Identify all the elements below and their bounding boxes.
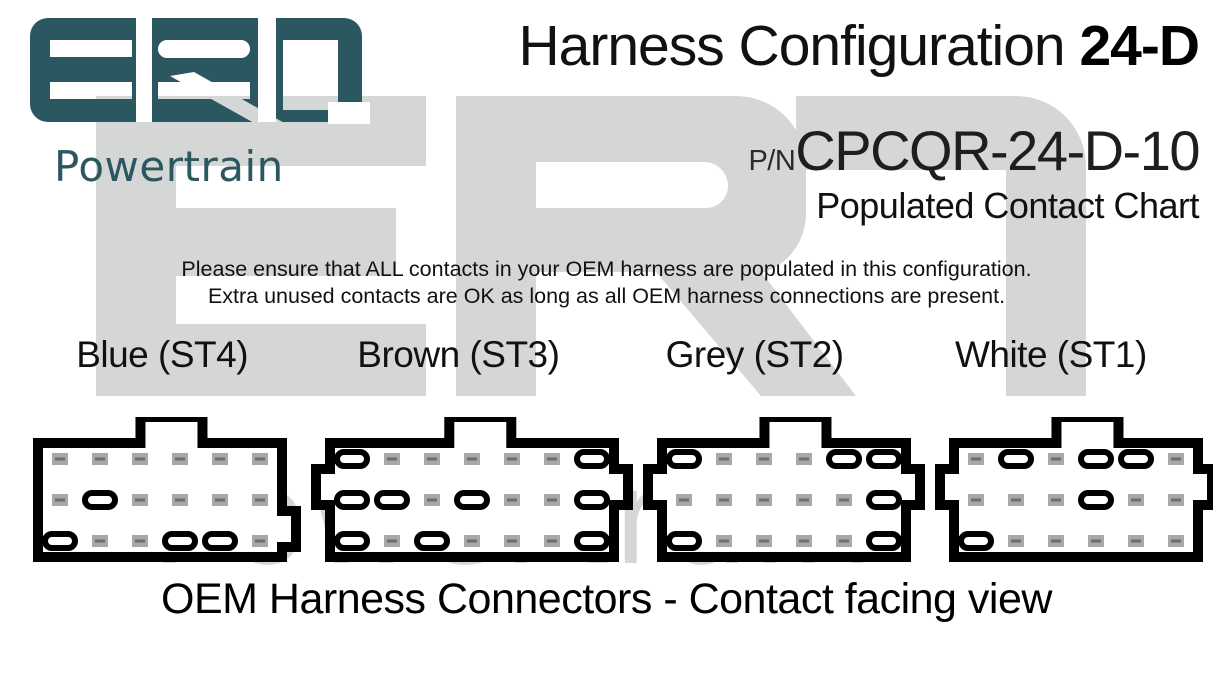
contact-empty bbox=[968, 494, 984, 506]
contact-empty bbox=[796, 535, 812, 547]
contact-empty bbox=[544, 535, 560, 547]
connector-body-st2 bbox=[638, 417, 930, 567]
contact-populated bbox=[1081, 452, 1111, 466]
connector-st4 bbox=[14, 417, 306, 567]
contact-empty bbox=[1048, 535, 1064, 547]
harness-configuration-sheet: Powertrain bbox=[0, 0, 1213, 682]
contact-populated bbox=[1081, 493, 1111, 507]
contact-empty bbox=[836, 494, 852, 506]
contact-populated bbox=[457, 493, 487, 507]
page-title-regular: Harness Configuration bbox=[518, 14, 1079, 78]
contact-empty bbox=[796, 494, 812, 506]
contact-empty bbox=[1128, 535, 1144, 547]
contact-empty bbox=[172, 494, 188, 506]
contact-empty bbox=[544, 453, 560, 465]
page-subtitle: Populated Contact Chart bbox=[816, 185, 1199, 227]
contact-empty bbox=[132, 535, 148, 547]
contact-empty bbox=[756, 494, 772, 506]
notice-line-1: Please ensure that ALL contacts in your … bbox=[0, 256, 1213, 283]
contact-populated bbox=[869, 493, 899, 507]
notice-block: Please ensure that ALL contacts in your … bbox=[0, 256, 1213, 310]
page-title: Harness Configuration 24-D bbox=[518, 18, 1199, 75]
contact-empty bbox=[92, 535, 108, 547]
contact-empty bbox=[504, 453, 520, 465]
contact-populated bbox=[577, 452, 607, 466]
connector-body-st3 bbox=[306, 417, 638, 567]
contact-populated bbox=[869, 452, 899, 466]
contact-populated bbox=[337, 534, 367, 548]
contact-empty bbox=[252, 535, 268, 547]
contact-empty bbox=[796, 453, 812, 465]
contact-empty bbox=[756, 453, 772, 465]
connector-diagrams-row bbox=[0, 387, 1213, 567]
contact-empty bbox=[968, 453, 984, 465]
contact-populated bbox=[869, 534, 899, 548]
contact-empty bbox=[1168, 494, 1184, 506]
contact-empty bbox=[716, 453, 732, 465]
contact-empty bbox=[132, 453, 148, 465]
connector-label-st1: White (ST1) bbox=[903, 336, 1199, 375]
erd-logo-mark bbox=[18, 16, 370, 124]
connector-st1 bbox=[930, 417, 1213, 567]
connector-st3 bbox=[306, 417, 638, 567]
contact-populated bbox=[45, 534, 75, 548]
contact-populated bbox=[669, 452, 699, 466]
contact-empty bbox=[424, 453, 440, 465]
page-header: Powertrain Harness Configuration 24-D P/… bbox=[0, 0, 1213, 232]
contact-empty bbox=[1048, 494, 1064, 506]
contact-populated bbox=[337, 493, 367, 507]
connector-body-st4 bbox=[14, 417, 306, 567]
contact-populated bbox=[205, 534, 235, 548]
connector-label-st3: Brown (ST3) bbox=[310, 336, 606, 375]
contact-populated bbox=[961, 534, 991, 548]
connector-label-st2: Grey (ST2) bbox=[607, 336, 903, 375]
contact-empty bbox=[504, 535, 520, 547]
contact-populated bbox=[377, 493, 407, 507]
contact-empty bbox=[92, 453, 108, 465]
contact-empty bbox=[52, 494, 68, 506]
contact-populated bbox=[417, 534, 447, 548]
connector-body-st1 bbox=[930, 417, 1213, 567]
contact-empty bbox=[756, 535, 772, 547]
contact-empty bbox=[836, 535, 852, 547]
contact-empty bbox=[132, 494, 148, 506]
contact-empty bbox=[1088, 535, 1104, 547]
connector-labels-row: Blue (ST4)Brown (ST3)Grey (ST2)White (ST… bbox=[0, 336, 1213, 375]
contact-empty bbox=[464, 535, 480, 547]
contact-empty bbox=[676, 494, 692, 506]
footer-caption: OEM Harness Connectors - Contact facing … bbox=[0, 575, 1213, 624]
contact-empty bbox=[1168, 453, 1184, 465]
notice-line-2: Extra unused contacts are OK as long as … bbox=[0, 283, 1213, 310]
part-number: P/NCPCQR-24-D-10 bbox=[748, 118, 1199, 183]
contact-populated bbox=[1001, 452, 1031, 466]
contact-empty bbox=[1128, 494, 1144, 506]
contact-empty bbox=[716, 535, 732, 547]
contact-empty bbox=[716, 494, 732, 506]
contact-populated bbox=[829, 452, 859, 466]
part-number-label: P/N bbox=[748, 145, 795, 177]
contact-empty bbox=[1008, 494, 1024, 506]
contact-empty bbox=[1168, 535, 1184, 547]
connector-label-st4: Blue (ST4) bbox=[14, 336, 310, 375]
contact-empty bbox=[1048, 453, 1064, 465]
contact-empty bbox=[212, 453, 228, 465]
contact-empty bbox=[172, 453, 188, 465]
contact-populated bbox=[165, 534, 195, 548]
contact-empty bbox=[424, 494, 440, 506]
erd-logo: Powertrain bbox=[18, 16, 370, 206]
contact-empty bbox=[1008, 535, 1024, 547]
contact-empty bbox=[252, 453, 268, 465]
contact-empty bbox=[384, 535, 400, 547]
contact-empty bbox=[52, 453, 68, 465]
contact-populated bbox=[85, 493, 115, 507]
contact-empty bbox=[384, 453, 400, 465]
contact-populated bbox=[577, 534, 607, 548]
contact-populated bbox=[337, 452, 367, 466]
contact-empty bbox=[544, 494, 560, 506]
contact-populated bbox=[1121, 452, 1151, 466]
contact-empty bbox=[504, 494, 520, 506]
page-title-config-code: 24-D bbox=[1079, 14, 1199, 78]
part-number-value: CPCQR-24-D-10 bbox=[795, 119, 1199, 182]
contact-empty bbox=[212, 494, 228, 506]
contact-empty bbox=[252, 494, 268, 506]
contact-empty bbox=[464, 453, 480, 465]
connector-st2 bbox=[638, 417, 930, 567]
contact-populated bbox=[577, 493, 607, 507]
erd-logo-wordmark: Powertrain bbox=[54, 146, 284, 188]
contact-populated bbox=[669, 534, 699, 548]
